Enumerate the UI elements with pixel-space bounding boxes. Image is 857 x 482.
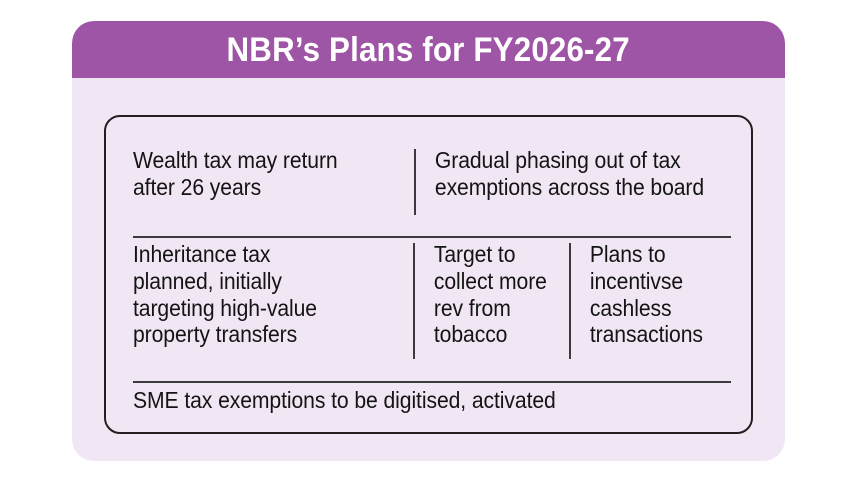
plan-item-wealth-tax-label: Wealth tax may return after 26 years bbox=[133, 147, 398, 201]
plan-row-middle: Inheritance tax planned, initially targe… bbox=[133, 241, 731, 363]
content-panel: Wealth tax may return after 26 years Gra… bbox=[104, 115, 753, 434]
plan-item-inheritance-tax-label: Inheritance tax planned, initially targe… bbox=[133, 241, 397, 348]
plan-item-tobacco-revenue-label: Target to collect more rev from tobacco bbox=[434, 241, 566, 348]
plan-item-tax-exemptions: Gradual phasing out of tax exemptions ac… bbox=[416, 147, 700, 217]
plan-item-tax-exemptions-label: Gradual phasing out of tax exemptions ac… bbox=[435, 147, 729, 201]
plan-item-cashless-transactions-label: Plans to incentivse cashless transaction… bbox=[589, 241, 728, 348]
plan-item-inheritance-tax: Inheritance tax planned, initially targe… bbox=[133, 241, 385, 363]
infographic-card: NBR’s Plans for FY2026-27 Wealth tax may… bbox=[72, 21, 785, 461]
row-divider-2 bbox=[133, 381, 731, 383]
infographic-root: NBR’s Plans for FY2026-27 Wealth tax may… bbox=[0, 0, 857, 482]
content-panel-inner: Wealth tax may return after 26 years Gra… bbox=[133, 117, 731, 436]
plan-item-tobacco-revenue: Target to collect more rev from tobacco bbox=[415, 241, 553, 363]
page-title: NBR’s Plans for FY2026-27 bbox=[227, 33, 630, 67]
plan-item-sme-tax-label: SME tax exemptions to be digitised, acti… bbox=[133, 387, 730, 414]
row-divider-1 bbox=[133, 236, 731, 238]
plan-row-top: Wealth tax may return after 26 years Gra… bbox=[133, 147, 731, 217]
plan-item-wealth-tax: Wealth tax may return after 26 years bbox=[133, 147, 386, 217]
plan-row-bottom: SME tax exemptions to be digitised, acti… bbox=[133, 387, 731, 423]
plan-item-cashless-transactions: Plans to incentivse cashless transaction… bbox=[571, 241, 715, 363]
plan-item-sme-tax: SME tax exemptions to be digitised, acti… bbox=[133, 387, 671, 423]
header-band: NBR’s Plans for FY2026-27 bbox=[72, 21, 785, 78]
